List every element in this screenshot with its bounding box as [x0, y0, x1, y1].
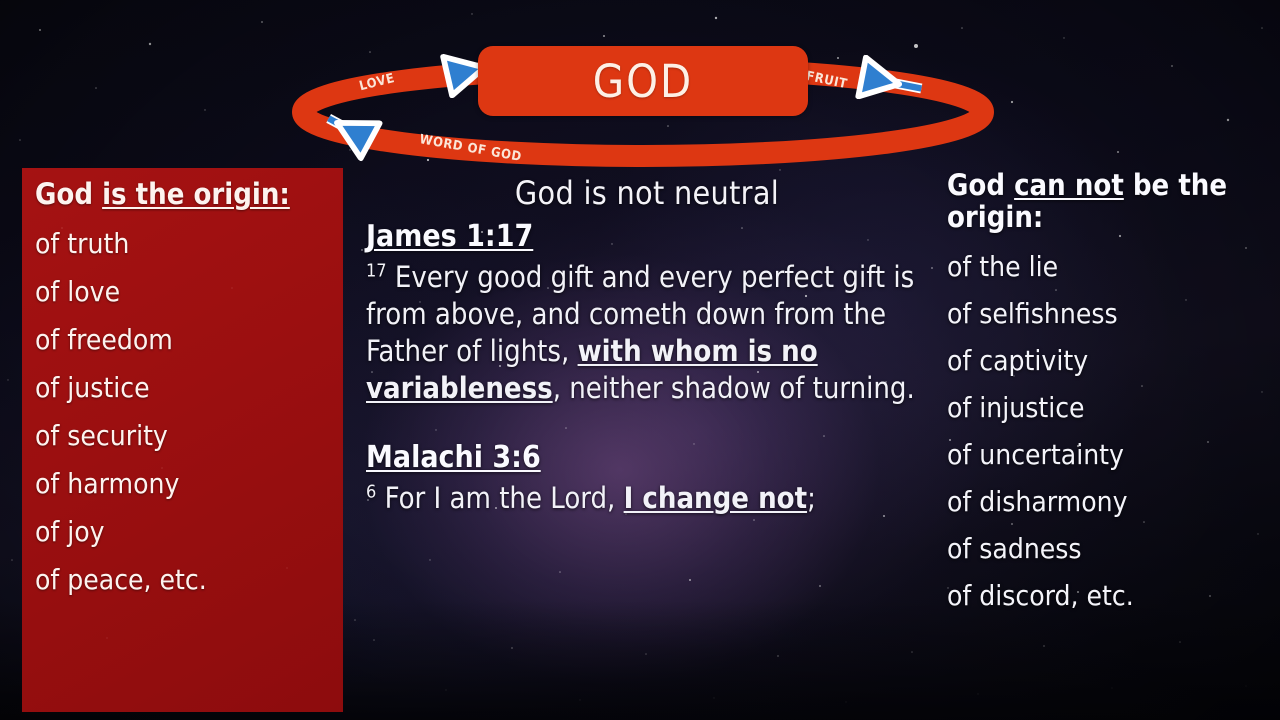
right-panel-heading: God can not be the origin:	[947, 170, 1267, 234]
passage-text: 6 For I am the Lord, I change not;	[366, 480, 928, 517]
scripture-column: God is not neutral James 1:17 17 Every g…	[366, 176, 928, 517]
right-panel-heading-underlined: can not	[1014, 168, 1124, 202]
list-item: of justice	[35, 374, 343, 402]
list-item: of security	[35, 422, 343, 450]
list-item: of selfishness	[947, 300, 1267, 328]
passage-reference: Malachi 3:6	[366, 441, 928, 476]
passage-text: 17 Every good gift and every perfect gif…	[366, 259, 928, 407]
list-item: of injustice	[947, 394, 1267, 422]
passage-reference: James 1:17	[366, 220, 928, 255]
god-can-not-be-origin-panel: God can not be the origin: of the lie of…	[947, 170, 1267, 610]
list-item: of disharmony	[947, 488, 1267, 516]
verse-text-part-2: ;	[807, 481, 816, 515]
passage-spacer	[366, 407, 928, 441]
left-panel-heading-prefix: God	[35, 177, 102, 211]
left-panel-heading-underlined: is the origin:	[102, 177, 290, 211]
list-item: of truth	[35, 230, 343, 258]
list-item: of discord, etc.	[947, 582, 1267, 610]
right-panel-heading-part-1: God	[947, 168, 1014, 202]
verse-emphasis: I change not	[624, 481, 807, 515]
passage-malachi: Malachi 3:6 6 For I am the Lord, I chang…	[366, 441, 928, 517]
slide-canvas: LOVE FRUIT WORD OF GOD	[0, 0, 1280, 720]
list-item: of captivity	[947, 347, 1267, 375]
list-item: of peace, etc.	[35, 566, 343, 594]
list-item: of the lie	[947, 253, 1267, 281]
left-panel-heading: God is the origin:	[35, 178, 343, 210]
verse-text-part-2: , neither shadow of turning.	[553, 371, 915, 405]
verse-number: 17	[366, 260, 387, 281]
list-item: of uncertainty	[947, 441, 1267, 469]
list-item: of love	[35, 278, 343, 306]
center-heading: God is not neutral	[366, 176, 928, 211]
list-item: of sadness	[947, 535, 1267, 563]
list-item: of joy	[35, 518, 343, 546]
verse-number: 6	[366, 481, 376, 502]
list-item: of freedom	[35, 326, 343, 354]
verse-text-part-1: For I am the Lord,	[376, 481, 623, 515]
god-center-box: GOD	[478, 46, 808, 116]
god-is-origin-panel: God is the origin: of truth of love of f…	[22, 168, 343, 712]
god-center-label: GOD	[593, 59, 693, 104]
passage-james: James 1:17 17 Every good gift and every …	[366, 220, 928, 407]
list-item: of harmony	[35, 470, 343, 498]
